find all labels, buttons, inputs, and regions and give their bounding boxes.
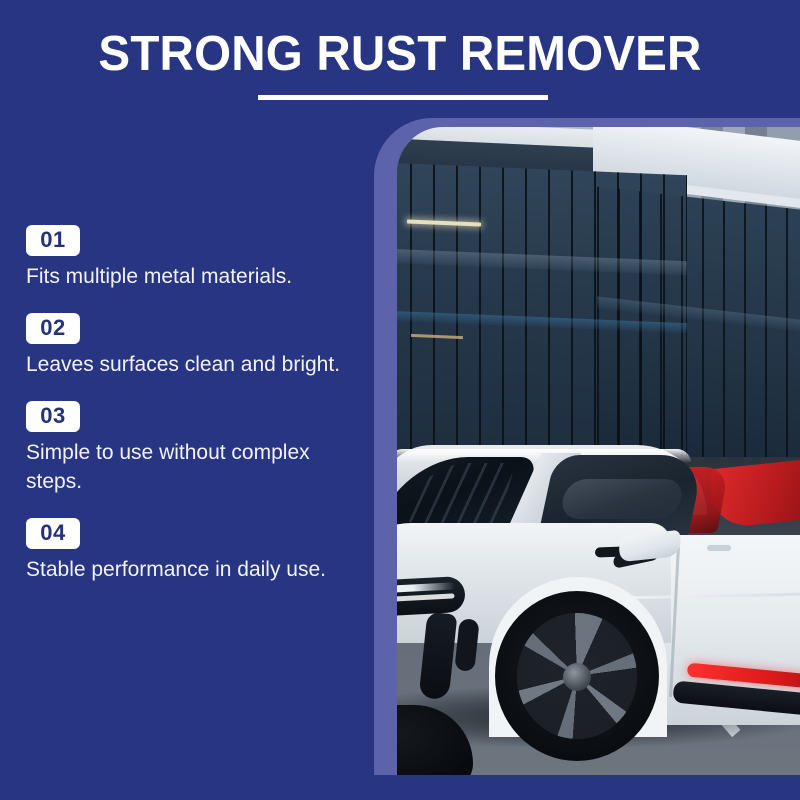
feature-text-04: Stable performance in daily use. <box>26 555 366 584</box>
white-sports-car <box>397 427 800 727</box>
product-feature-poster: STRONG RUST REMOVER <box>0 0 800 800</box>
car-wheel-hub <box>563 663 591 691</box>
feature-text-01: Fits multiple metal materials. <box>26 262 366 291</box>
feature-item-04: 04 Stable performance in daily use. <box>0 518 374 584</box>
feature-number-badge-03: 03 <box>26 401 80 432</box>
feature-list: 01 Fits multiple metal materials. 02 Lea… <box>0 225 374 606</box>
car-window-gloss <box>559 479 686 519</box>
car-door-handle <box>707 545 731 551</box>
title-underline-rule <box>258 95 548 100</box>
poster-header: STRONG RUST REMOVER <box>0 0 800 115</box>
page-title: STRONG RUST REMOVER <box>12 26 788 82</box>
feature-item-01: 01 Fits multiple metal materials. <box>0 225 374 291</box>
feature-number-badge-04: 04 <box>26 518 80 549</box>
feature-number-badge-01: 01 <box>26 225 80 256</box>
feature-text-02: Leaves surfaces clean and bright. <box>26 350 366 379</box>
feature-text-03: Simple to use without complex steps. <box>26 438 366 496</box>
feature-item-03: 03 Simple to use without complex steps. <box>0 401 374 496</box>
car-air-intake-secondary <box>454 618 479 672</box>
feature-item-02: 02 Leaves surfaces clean and bright. <box>0 313 374 379</box>
photo-outline-accent <box>374 118 800 775</box>
photo-frame <box>397 127 800 775</box>
feature-number-badge-02: 02 <box>26 313 80 344</box>
car-rear-tire <box>397 705 473 775</box>
product-scene-photo <box>397 127 800 775</box>
car-taillight-strip <box>711 457 800 530</box>
